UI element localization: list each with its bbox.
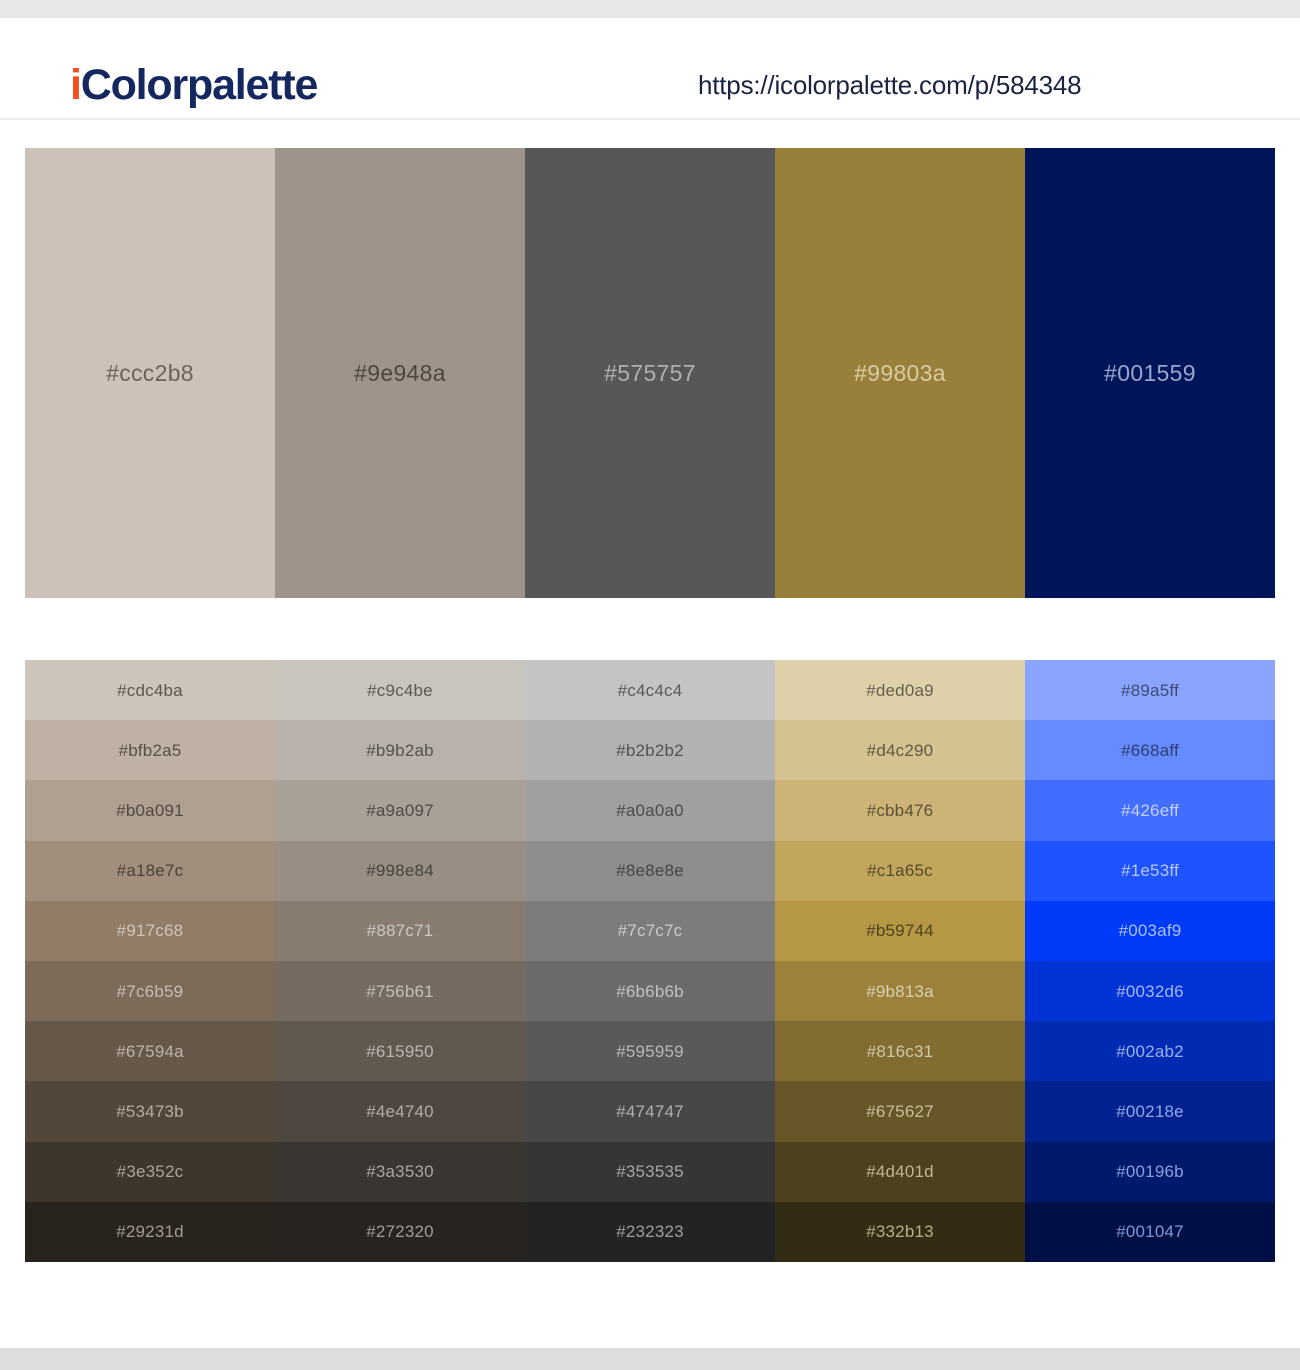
shade-cell[interactable]: #53473b [25, 1081, 275, 1141]
shade-cell-label: #4e4740 [366, 1103, 434, 1120]
shade-cell-label: #756b61 [366, 983, 434, 1000]
shade-cell[interactable]: #29231d [25, 1202, 275, 1262]
shade-cell-label: #232323 [616, 1223, 684, 1240]
shade-cell-label: #675627 [866, 1103, 934, 1120]
shade-cell[interactable]: #675627 [775, 1081, 1025, 1141]
shade-cell[interactable]: #917c68 [25, 901, 275, 961]
main-palette: #ccc2b8#9e948a#575757#99803a#001559 [25, 148, 1275, 598]
shade-cell[interactable]: #7c6b59 [25, 961, 275, 1021]
shade-cell-label: #332b13 [866, 1223, 934, 1240]
shade-cell-label: #615950 [366, 1043, 434, 1060]
shade-cell-label: #3a3530 [366, 1163, 434, 1180]
column-9e948a: #c9c4be#b9b2ab#a9a097#998e84#887c71#756b… [275, 660, 525, 1262]
shade-cell[interactable]: #003af9 [1025, 901, 1275, 961]
shade-cell[interactable]: #9b813a [775, 961, 1025, 1021]
palette-swatch[interactable]: #ccc2b8 [25, 148, 275, 598]
shade-cell-label: #b2b2b2 [616, 742, 684, 759]
logo-letter-i: i [70, 61, 81, 109]
shade-cell-label: #cbb476 [867, 802, 934, 819]
shade-cell-label: #29231d [116, 1223, 184, 1240]
shade-cell-label: #cdc4ba [117, 682, 183, 699]
shade-cell[interactable]: #b9b2ab [275, 720, 525, 780]
shade-cell[interactable]: #998e84 [275, 841, 525, 901]
shade-cell[interactable]: #c1a65c [775, 841, 1025, 901]
shade-cell[interactable]: #595959 [525, 1021, 775, 1081]
shade-cell-label: #b9b2ab [366, 742, 434, 759]
page-root: iColorpalette https://icolorpalette.com/… [0, 0, 1300, 1370]
shade-cell[interactable]: #c4c4c4 [525, 660, 775, 720]
shade-cell[interactable]: #474747 [525, 1081, 775, 1141]
shade-cell[interactable]: #cdc4ba [25, 660, 275, 720]
site-header: iColorpalette https://icolorpalette.com/… [0, 18, 1300, 120]
shade-cell-label: #1e53ff [1121, 862, 1179, 879]
column-99803a: #ded0a9#d4c290#cbb476#c1a65c#b59744#9b81… [775, 660, 1025, 1262]
shade-cell[interactable]: #7c7c7c [525, 901, 775, 961]
bottom-background-strip [0, 1348, 1300, 1370]
shade-cell-label: #998e84 [366, 862, 434, 879]
shade-cell-label: #7c6b59 [117, 983, 184, 1000]
palette-swatch-label: #9e948a [354, 362, 446, 385]
shade-cell[interactable]: #a9a097 [275, 780, 525, 840]
shade-cell[interactable]: #1e53ff [1025, 841, 1275, 901]
shade-cell-label: #c9c4be [367, 682, 433, 699]
shade-cell-label: #89a5ff [1121, 682, 1179, 699]
palette-url[interactable]: https://icolorpalette.com/p/584348 [698, 72, 1081, 98]
shade-cell-label: #272320 [366, 1223, 434, 1240]
column-ccc2b8: #cdc4ba#bfb2a5#b0a091#a18e7c#917c68#7c6b… [25, 660, 275, 1262]
shade-cell-label: #ded0a9 [866, 682, 934, 699]
shade-cell[interactable]: #c9c4be [275, 660, 525, 720]
shade-cell-label: #a18e7c [117, 862, 184, 879]
shade-cell-label: #668aff [1121, 742, 1179, 759]
shade-cell-label: #353535 [616, 1163, 684, 1180]
palette-swatch[interactable]: #001559 [1025, 148, 1275, 598]
shade-cell-label: #9b813a [866, 983, 934, 1000]
palette-swatch-label: #99803a [854, 362, 946, 385]
shade-cell[interactable]: #89a5ff [1025, 660, 1275, 720]
shade-cell[interactable]: #4d401d [775, 1142, 1025, 1202]
shade-cell[interactable]: #ded0a9 [775, 660, 1025, 720]
shade-cell[interactable]: #353535 [525, 1142, 775, 1202]
site-logo[interactable]: iColorpalette [70, 64, 317, 107]
shade-cell-label: #002ab2 [1116, 1043, 1184, 1060]
shade-cell[interactable]: #b0a091 [25, 780, 275, 840]
shade-cell[interactable]: #332b13 [775, 1202, 1025, 1262]
shade-cell[interactable]: #816c31 [775, 1021, 1025, 1081]
shade-cell-label: #887c71 [367, 922, 434, 939]
shade-cell[interactable]: #887c71 [275, 901, 525, 961]
shade-cell-label: #0032d6 [1116, 983, 1184, 1000]
column-575757: #c4c4c4#b2b2b2#a0a0a0#8e8e8e#7c7c7c#6b6b… [525, 660, 775, 1262]
palette-swatch-label: #575757 [604, 362, 696, 385]
shade-cell[interactable]: #cbb476 [775, 780, 1025, 840]
shade-cell-label: #917c68 [117, 922, 184, 939]
shade-cell[interactable]: #8e8e8e [525, 841, 775, 901]
palette-swatch[interactable]: #99803a [775, 148, 1025, 598]
shade-cell[interactable]: #67594a [25, 1021, 275, 1081]
shade-cell[interactable]: #232323 [525, 1202, 775, 1262]
shade-cell-label: #b59744 [866, 922, 934, 939]
shade-cell[interactable]: #3e352c [25, 1142, 275, 1202]
shade-cell-label: #4d401d [866, 1163, 934, 1180]
shade-cell-label: #003af9 [1119, 922, 1182, 939]
shade-cell-label: #595959 [616, 1043, 684, 1060]
logo-text: Colorpalette [81, 61, 317, 109]
shade-cell[interactable]: #00218e [1025, 1081, 1275, 1141]
shade-cell-label: #426eff [1121, 802, 1179, 819]
palette-swatch-label: #ccc2b8 [106, 362, 194, 385]
shade-cell[interactable]: #6b6b6b [525, 961, 775, 1021]
shade-cell-label: #bfb2a5 [119, 742, 182, 759]
shade-cell-label: #b0a091 [116, 802, 184, 819]
shade-cell[interactable]: #b2b2b2 [525, 720, 775, 780]
shade-cell[interactable]: #668aff [1025, 720, 1275, 780]
shade-cell[interactable]: #0032d6 [1025, 961, 1275, 1021]
shade-cell-label: #001047 [1116, 1223, 1184, 1240]
shade-cell[interactable]: #00196b [1025, 1142, 1275, 1202]
shade-cell[interactable]: #3a3530 [275, 1142, 525, 1202]
shade-cell[interactable]: #d4c290 [775, 720, 1025, 780]
palette-swatch[interactable]: #9e948a [275, 148, 525, 598]
shade-cell-label: #6b6b6b [616, 983, 684, 1000]
shade-cell-label: #d4c290 [867, 742, 934, 759]
shade-cell-label: #c4c4c4 [618, 682, 683, 699]
shade-cell-label: #00218e [1116, 1103, 1184, 1120]
shade-cell-label: #c1a65c [867, 862, 933, 879]
column-001559: #89a5ff#668aff#426eff#1e53ff#003af9#0032… [1025, 660, 1275, 1262]
shade-cell-label: #67594a [116, 1043, 184, 1060]
shades-grid: #cdc4ba#bfb2a5#b0a091#a18e7c#917c68#7c6b… [25, 660, 1275, 1262]
shade-cell-label: #00196b [1116, 1163, 1184, 1180]
shade-cell[interactable]: #272320 [275, 1202, 525, 1262]
shade-cell[interactable]: #b59744 [775, 901, 1025, 961]
shade-cell-label: #a9a097 [366, 802, 434, 819]
shade-cell-label: #816c31 [867, 1043, 934, 1060]
shade-cell[interactable]: #002ab2 [1025, 1021, 1275, 1081]
shade-cell-label: #53473b [116, 1103, 184, 1120]
palette-swatch[interactable]: #575757 [525, 148, 775, 598]
shade-cell-label: #8e8e8e [616, 862, 684, 879]
top-background-strip [0, 0, 1300, 18]
shade-cell-label: #3e352c [117, 1163, 184, 1180]
shade-cell[interactable]: #4e4740 [275, 1081, 525, 1141]
shade-cell-label: #474747 [616, 1103, 684, 1120]
shade-cell-label: #7c7c7c [618, 922, 683, 939]
shade-cell-label: #a0a0a0 [616, 802, 684, 819]
palette-swatch-label: #001559 [1104, 362, 1196, 385]
shade-cell[interactable]: #a18e7c [25, 841, 275, 901]
shade-cell[interactable]: #bfb2a5 [25, 720, 275, 780]
shade-cell[interactable]: #756b61 [275, 961, 525, 1021]
shade-cell[interactable]: #001047 [1025, 1202, 1275, 1262]
shade-cell[interactable]: #426eff [1025, 780, 1275, 840]
shade-cell[interactable]: #615950 [275, 1021, 525, 1081]
shade-cell[interactable]: #a0a0a0 [525, 780, 775, 840]
